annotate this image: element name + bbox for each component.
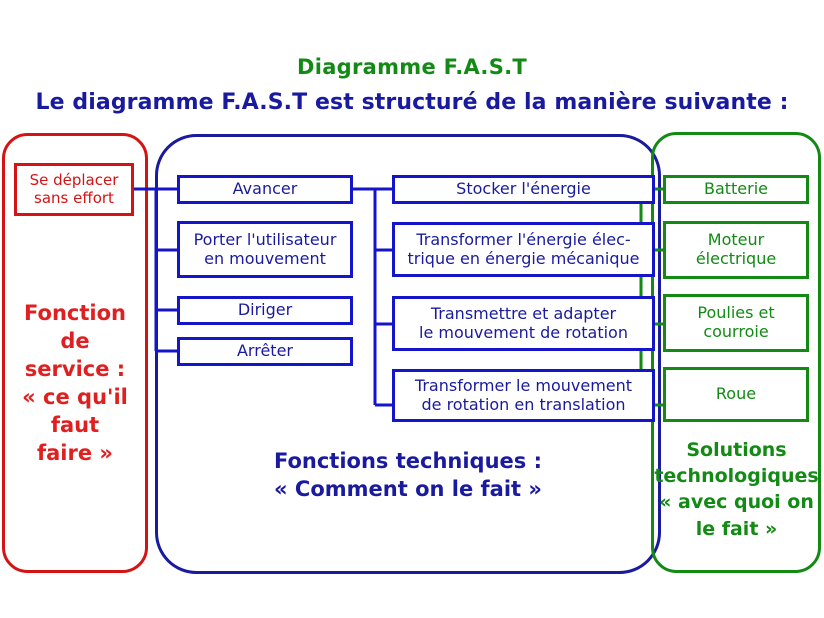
- solution-box-4-line-1: Roue: [716, 385, 756, 404]
- solution-box-1-line-1: Batterie: [704, 180, 768, 199]
- solutions-caption: Solutions technologiques « avec quoi on …: [653, 437, 820, 542]
- service-function-caption-line-2: de: [4, 328, 146, 356]
- service-function-caption-line-6: faire »: [4, 440, 146, 468]
- service-function-box-line-2: sans effort: [30, 190, 119, 208]
- solutions-caption-line-3: « avec quoi on: [653, 489, 820, 515]
- solution-box-2-line-2: électrique: [696, 250, 776, 269]
- technical-function-level2-box-3-line-2: le mouvement de rotation: [419, 324, 628, 343]
- service-function-caption-line-1: Fonction: [4, 300, 146, 328]
- solutions-caption-line-2: technologiques: [653, 463, 820, 489]
- technical-function-level2-box-4-line-2: de rotation en translation: [415, 396, 632, 415]
- solution-box-3-line-1: Poulies et: [697, 304, 774, 323]
- solution-box-2-line-1: Moteur: [696, 231, 776, 250]
- solutions-caption-line-4: le fait »: [653, 516, 820, 542]
- service-function-caption: Fonction de service : « ce qu'il faut fa…: [4, 300, 146, 468]
- technical-function-level2-box-1[interactable]: Stocker l'énergie: [392, 175, 655, 204]
- technical-function-level2-box-3-line-1: Transmettre et adapter: [419, 305, 628, 324]
- technical-function-level2-box-2-line-2: trique en énergie mécanique: [407, 250, 639, 269]
- technical-function-level1-box-4[interactable]: Arrêter: [177, 337, 353, 366]
- service-function-caption-line-5: faut: [4, 412, 146, 440]
- fast-diagram-canvas: Diagramme F.A.S.T Le diagramme F.A.S.T e…: [0, 0, 824, 618]
- solution-box-3[interactable]: Poulies et courroie: [663, 294, 809, 352]
- technical-function-level1-box-3-line-1: Diriger: [238, 301, 292, 320]
- solution-box-2[interactable]: Moteur électrique: [663, 221, 809, 279]
- technical-function-level1-box-1-line-1: Avancer: [233, 180, 298, 199]
- page-subtitle: Le diagramme F.A.S.T est structuré de la…: [0, 90, 824, 115]
- technical-function-level2-box-2[interactable]: Transformer l'énergie élec- trique en én…: [392, 222, 655, 277]
- solutions-caption-line-1: Solutions: [653, 437, 820, 463]
- technical-function-level1-box-2[interactable]: Porter l'utilisateur en mouvement: [177, 221, 353, 278]
- technical-function-level1-box-2-line-1: Porter l'utilisateur: [194, 231, 337, 250]
- technical-function-level2-box-4-line-1: Transformer le mouvement: [415, 377, 632, 396]
- technical-functions-caption-line-2: « Comment on le fait »: [165, 476, 651, 504]
- technical-function-level1-box-2-line-2: en mouvement: [194, 250, 337, 269]
- technical-function-level2-box-4[interactable]: Transformer le mouvement de rotation en …: [392, 369, 655, 422]
- technical-function-level2-box-1-line-1: Stocker l'énergie: [456, 180, 591, 199]
- technical-function-level1-box-1[interactable]: Avancer: [177, 175, 353, 204]
- technical-function-level1-box-4-line-1: Arrêter: [237, 342, 293, 361]
- service-function-caption-line-4: « ce qu'il: [4, 384, 146, 412]
- technical-function-level1-box-3[interactable]: Diriger: [177, 296, 353, 325]
- solution-box-1[interactable]: Batterie: [663, 175, 809, 204]
- technical-functions-caption-line-1: Fonctions techniques :: [165, 448, 651, 476]
- service-function-box-line-1: Se déplacer: [30, 172, 119, 190]
- connector-level1-to-level2: [353, 189, 392, 405]
- solution-box-4[interactable]: Roue: [663, 367, 809, 422]
- page-title: Diagramme F.A.S.T: [0, 55, 824, 79]
- service-function-box[interactable]: Se déplacer sans effort: [14, 163, 134, 216]
- solution-box-3-line-2: courroie: [697, 323, 774, 342]
- technical-function-level2-box-3[interactable]: Transmettre et adapter le mouvement de r…: [392, 296, 655, 351]
- technical-functions-caption: Fonctions techniques : « Comment on le f…: [165, 448, 651, 504]
- technical-function-level2-box-2-line-1: Transformer l'énergie élec-: [407, 231, 639, 250]
- service-function-caption-line-3: service :: [4, 356, 146, 384]
